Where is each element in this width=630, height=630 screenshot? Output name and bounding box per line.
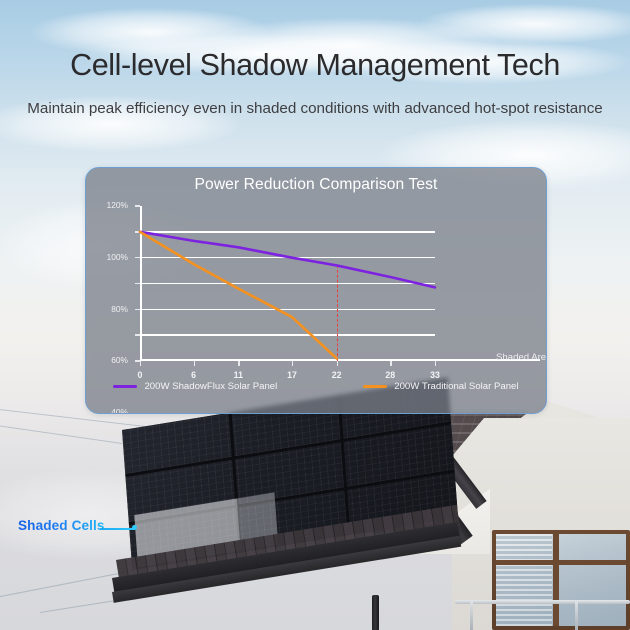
x-axis-tick-label: 28 [385, 370, 395, 380]
page-title: Cell-level Shadow Management Tech [0, 48, 630, 83]
x-axis-tick [390, 361, 391, 366]
x-axis-tick-label: 22 [332, 370, 342, 380]
legend-color-swatch [113, 385, 137, 388]
shaded-cells-callout-label: Shaded Cells [18, 518, 105, 533]
y-axis-tick-label: 60% [111, 355, 128, 365]
chart-legend: 200W ShadowFlux Solar Panel200W Traditio… [86, 381, 546, 392]
x-axis-tick-label: 33 [430, 370, 440, 380]
legend-label: 200W ShadowFlux Solar Panel [144, 381, 277, 392]
legend-label: 200W Traditional Solar Panel [394, 381, 518, 392]
x-axis-tick [238, 361, 239, 366]
x-axis-tick [194, 361, 195, 366]
x-axis-tick [292, 361, 293, 366]
callout-endpoint-dot [132, 525, 137, 530]
cloud [420, 4, 630, 44]
x-axis-tick-label: 11 [234, 370, 243, 380]
x-axis-tick-label: 17 [287, 370, 297, 380]
legend-item[interactable]: 200W ShadowFlux Solar Panel [113, 381, 277, 392]
cloud [0, 470, 220, 560]
y-axis-tick-label: 80% [111, 304, 128, 314]
y-axis-tick-label: 100% [107, 252, 128, 262]
callout-leader-line [100, 528, 134, 530]
chart-card: Power Reduction Comparison Test 0%20%40%… [85, 167, 547, 414]
y-axis-tick-label: 40% [111, 407, 128, 414]
cloud [440, 420, 630, 500]
legend-item[interactable]: 200W Traditional Solar Panel [363, 381, 518, 392]
series-line [140, 232, 337, 359]
chart-title: Power Reduction Comparison Test [86, 176, 546, 194]
promo-banner: Cell-level Shadow Management Tech Mainta… [0, 0, 630, 630]
y-axis-tick-label: 120% [107, 200, 128, 210]
legend-color-swatch [363, 385, 387, 388]
x-axis-tick-label: 0 [138, 370, 143, 380]
x-axis-tick [435, 361, 436, 366]
x-axis-tick-label: 6 [191, 370, 196, 380]
chart-plot-area: 0%20%40%60%80%100%120% 061117222833 [140, 206, 484, 361]
page-subtitle: Maintain peak efficiency even in shaded … [0, 98, 630, 119]
x-axis-title: Shaded Area(%) [496, 352, 547, 363]
x-axis-tick [337, 361, 338, 366]
x-axis-tick [140, 361, 141, 366]
chart-series-lines [140, 206, 484, 361]
